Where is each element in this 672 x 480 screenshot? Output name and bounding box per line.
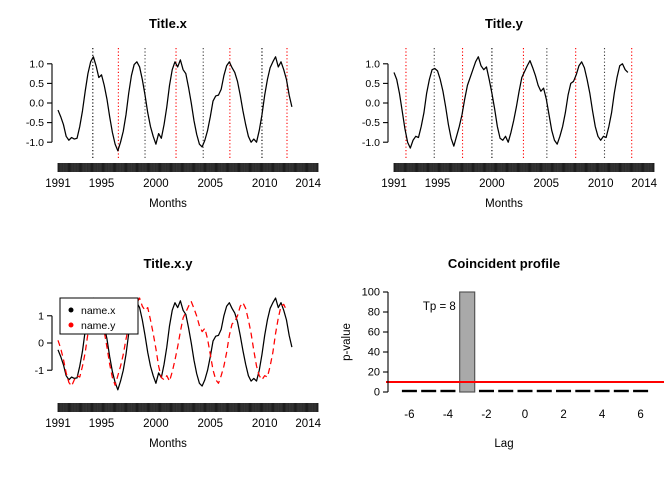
y-tick-label: 0.0 (29, 98, 44, 110)
plot-title-y: 1.00.50.0-0.5-1.019911995200020052010201… (336, 40, 672, 190)
y-tick-label: 40 (368, 347, 380, 359)
legend-label-name.y: name.y (81, 320, 116, 332)
y-tick-label: 1.0 (365, 58, 380, 70)
panel-coincident-profile: Coincident profile 020406080100-6-4-2024… (336, 240, 672, 480)
y-tick-label: 0.5 (365, 78, 380, 90)
x-tick-label: 2 (560, 409, 566, 421)
xlabel-title-x-y: Months (0, 438, 336, 450)
x-tick-label: 1995 (89, 418, 115, 430)
legend-marker-name.y (69, 323, 74, 328)
plot-coincident-profile: 020406080100-6-4-20246p-valueTp = 8 (336, 280, 672, 430)
x-tick-label: 2010 (588, 178, 614, 190)
y-tick-label: -1.0 (362, 137, 380, 149)
panel-title-y-heading: Title.y (336, 16, 672, 31)
x-tick-label: 1991 (381, 178, 407, 190)
x-tick-label: 2000 (143, 178, 169, 190)
legend-label-name.x: name.x (81, 305, 116, 317)
y-tick-label: -1 (35, 365, 44, 377)
x-tick-label: -6 (404, 409, 414, 421)
x-tick-label: 2014 (295, 418, 321, 430)
plot-title-x: 1.00.50.0-0.5-1.019911995200020052010201… (0, 40, 336, 190)
xlabel-coincident-profile: Lag (336, 438, 672, 450)
annotation-tp: Tp = 8 (423, 301, 456, 313)
plot-title-x-y: 10-1199119952000200520102014name.xname.y (0, 280, 336, 430)
x-tick-label: 1991 (45, 418, 71, 430)
y-tick-label: -0.5 (26, 117, 44, 129)
multi-panel-figure: Title.x 1.00.50.0-0.5-1.0199119952000200… (0, 0, 672, 480)
y-tick-label: 0 (38, 338, 44, 350)
panel-title-x: Title.x 1.00.50.0-0.5-1.0199119952000200… (0, 0, 336, 240)
y-tick-label: 80 (368, 307, 380, 319)
x-tick-label: 1995 (89, 178, 115, 190)
y-tick-label: -0.5 (362, 117, 380, 129)
panel-title-y: Title.y 1.00.50.0-0.5-1.0199119952000200… (336, 0, 672, 240)
y-tick-label: 1.0 (29, 58, 44, 70)
legend-marker-name.x (69, 308, 74, 313)
y-tick-label: 20 (368, 367, 380, 379)
x-tick-label: 2014 (631, 178, 657, 190)
x-tick-label: 2000 (143, 418, 169, 430)
panel-title-x-y: Title.x.y 10-1199119952000200520102014na… (0, 240, 336, 480)
x-tick-label: -4 (443, 409, 454, 421)
panel-title-x-heading: Title.x (0, 16, 336, 31)
x-tick-label: 2010 (252, 418, 278, 430)
x-tick-label: 6 (637, 409, 643, 421)
x-tick-label: 2014 (295, 178, 321, 190)
panel-coincident-profile-heading: Coincident profile (336, 256, 672, 271)
y-tick-label: 1 (38, 310, 44, 322)
x-tick-label: 2010 (252, 178, 278, 190)
x-tick-label: 2005 (534, 178, 560, 190)
y-tick-label: 0 (374, 387, 380, 399)
x-tick-label: 2000 (479, 178, 505, 190)
x-tick-label: 1995 (425, 178, 451, 190)
xlabel-title-x: Months (0, 198, 336, 210)
y-tick-label: 0.0 (365, 98, 380, 110)
x-tick-label: 2005 (198, 178, 224, 190)
bar (460, 292, 475, 392)
panel-title-x-y-heading: Title.x.y (0, 256, 336, 271)
x-tick-label: 2005 (198, 418, 224, 430)
x-tick-label: 1991 (45, 178, 71, 190)
x-tick-label: 4 (599, 409, 606, 421)
y-tick-label: 60 (368, 327, 380, 339)
x-tick-label: -2 (481, 409, 491, 421)
xlabel-title-y: Months (336, 198, 672, 210)
x-tick-label: 0 (522, 409, 528, 421)
y-tick-label: 0.5 (29, 78, 44, 90)
ylabel-p-value: p-value (341, 323, 353, 361)
y-tick-label: -1.0 (26, 137, 44, 149)
y-tick-label: 100 (362, 287, 380, 299)
series-line-name.y (394, 57, 628, 148)
